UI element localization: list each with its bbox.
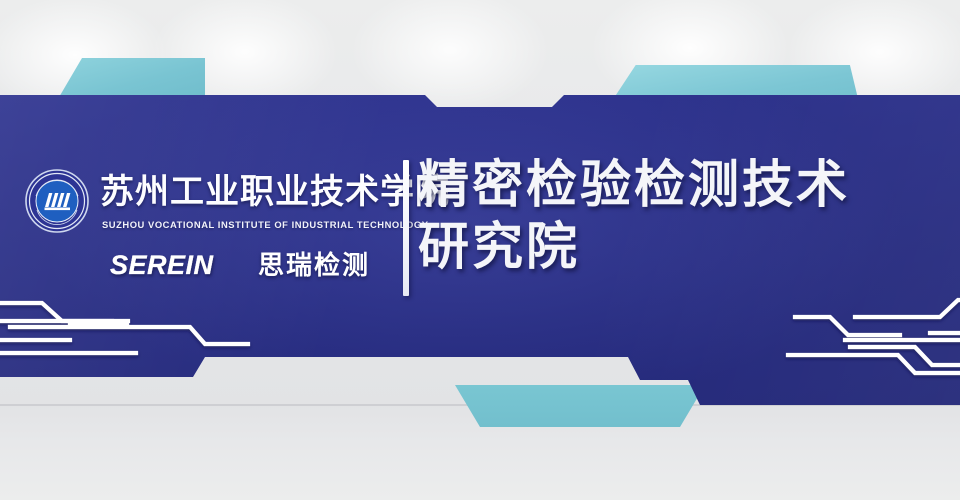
signage-scene: 苏州工业职业技术学院 SUZHOU VOCATIONAL INSTITUTE O…: [0, 0, 960, 500]
suzhou-institute-emblem-icon: [24, 168, 90, 234]
institution-logo-block: 苏州工业职业技术学院 SUZHOU VOCATIONAL INSTITUTE O…: [18, 160, 398, 300]
serein-name-en: SEREIN: [110, 248, 214, 282]
vertical-divider-bar: [403, 160, 409, 296]
teal-trapezoid-bottom: [455, 385, 705, 427]
institution-name-en: SUZHOU VOCATIONAL INSTITUTE OF INDUSTRIA…: [102, 218, 412, 232]
serein-brand-row: SEREIN 思瑞检测: [110, 248, 410, 282]
page-title-line-2: 研究院: [418, 217, 948, 279]
serein-name-cn: 思瑞检测: [258, 249, 370, 283]
institution-name-cn: 苏州工业职业技术学院: [100, 168, 400, 216]
page-title-line-1: 精密检验检测技术: [418, 155, 948, 217]
page-title: 精密检验检测技术 研究院: [418, 155, 948, 279]
